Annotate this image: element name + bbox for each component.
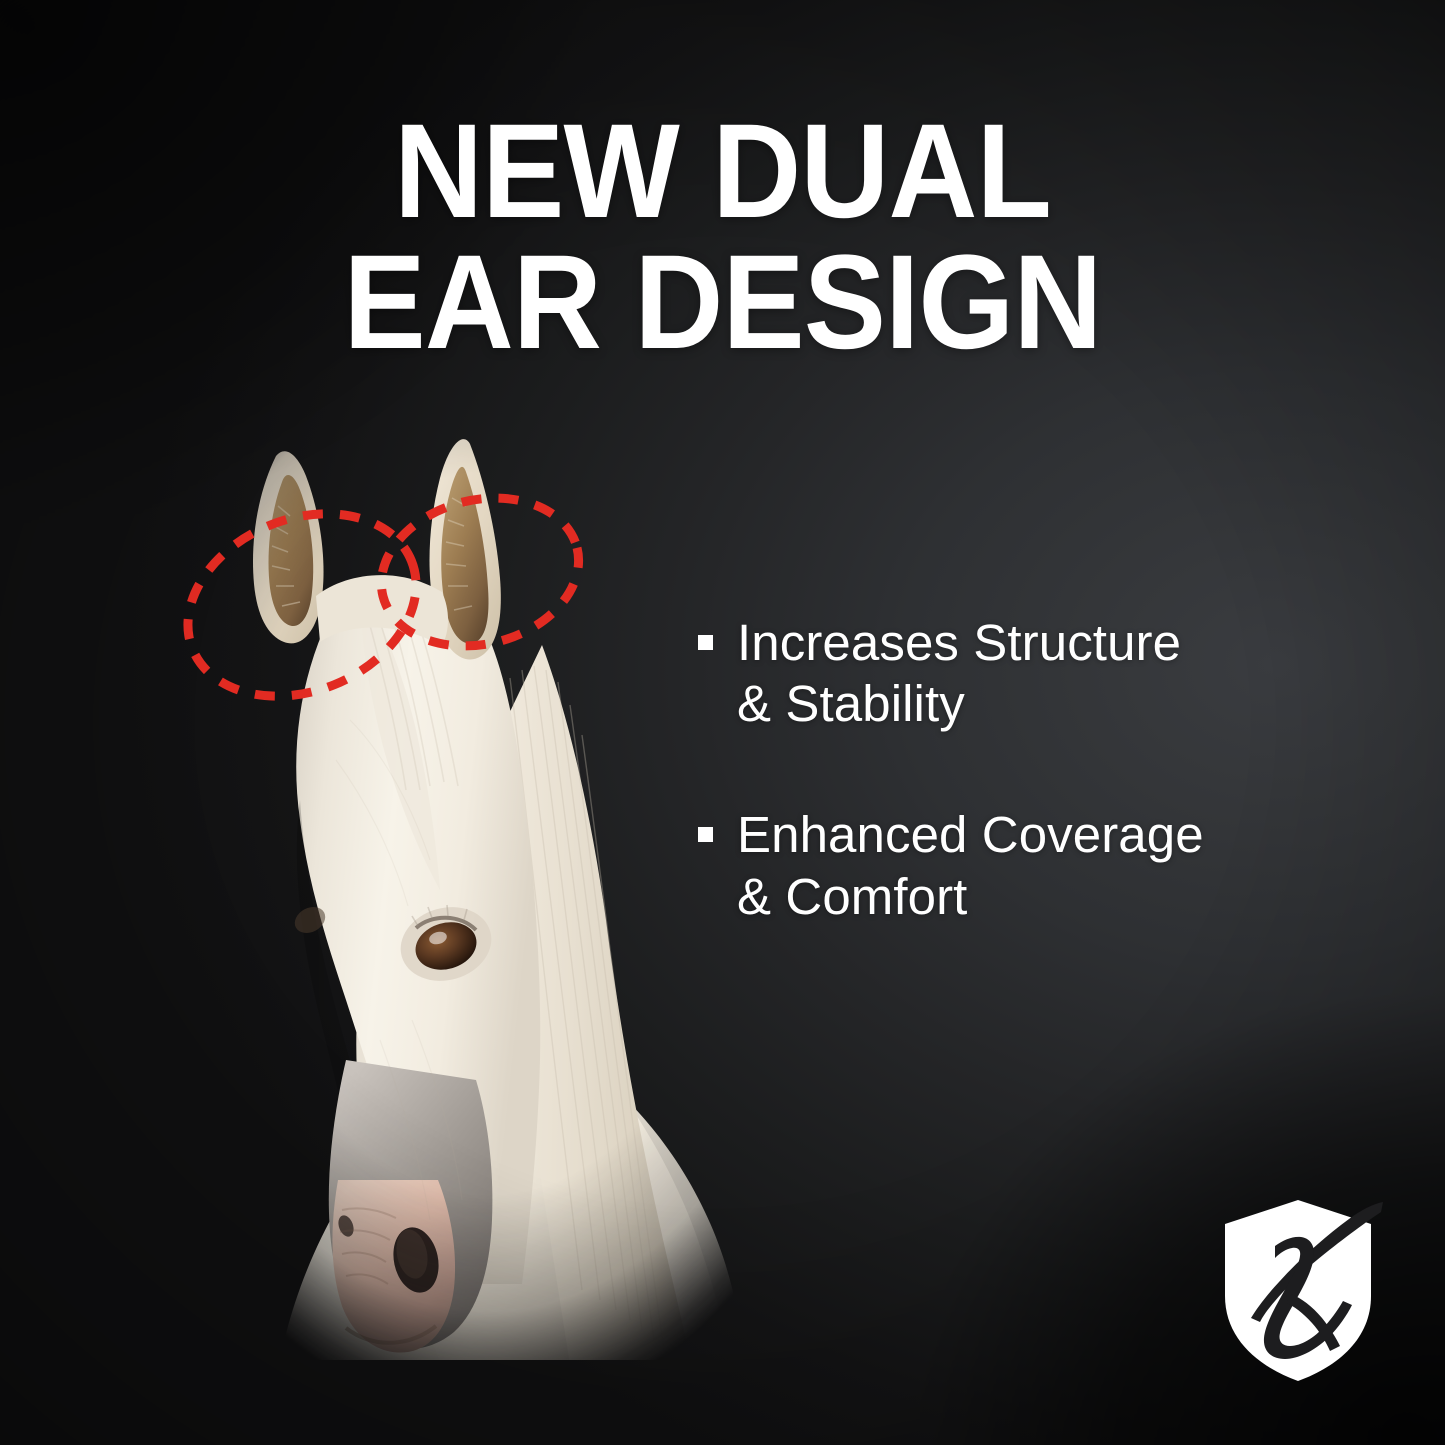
feature-text: Enhanced Coverage & Comfort [737,804,1204,926]
bullet-square-icon [698,635,713,650]
list-item: Increases Structure & Stability [698,612,1358,734]
brand-logo [1213,1198,1383,1383]
headline-line-2: EAR DESIGN [58,237,1387,368]
headline-line-1: NEW DUAL [58,106,1387,237]
page-title: NEW DUAL EAR DESIGN [58,106,1387,369]
shield-k-logo-icon [1213,1198,1383,1383]
feature-line-1: Increases Structure [737,614,1181,671]
feature-line-1: Enhanced Coverage [737,806,1204,863]
list-item: Enhanced Coverage & Comfort [698,804,1358,926]
feature-list: Increases Structure & Stability Enhanced… [698,612,1358,927]
poster-canvas: NEW DUAL EAR DESIGN Increases Structure … [0,0,1445,1445]
bullet-square-icon [698,827,713,842]
feature-line-2: & Comfort [737,868,967,925]
feature-text: Increases Structure & Stability [737,612,1181,734]
feature-line-2: & Stability [737,675,965,732]
